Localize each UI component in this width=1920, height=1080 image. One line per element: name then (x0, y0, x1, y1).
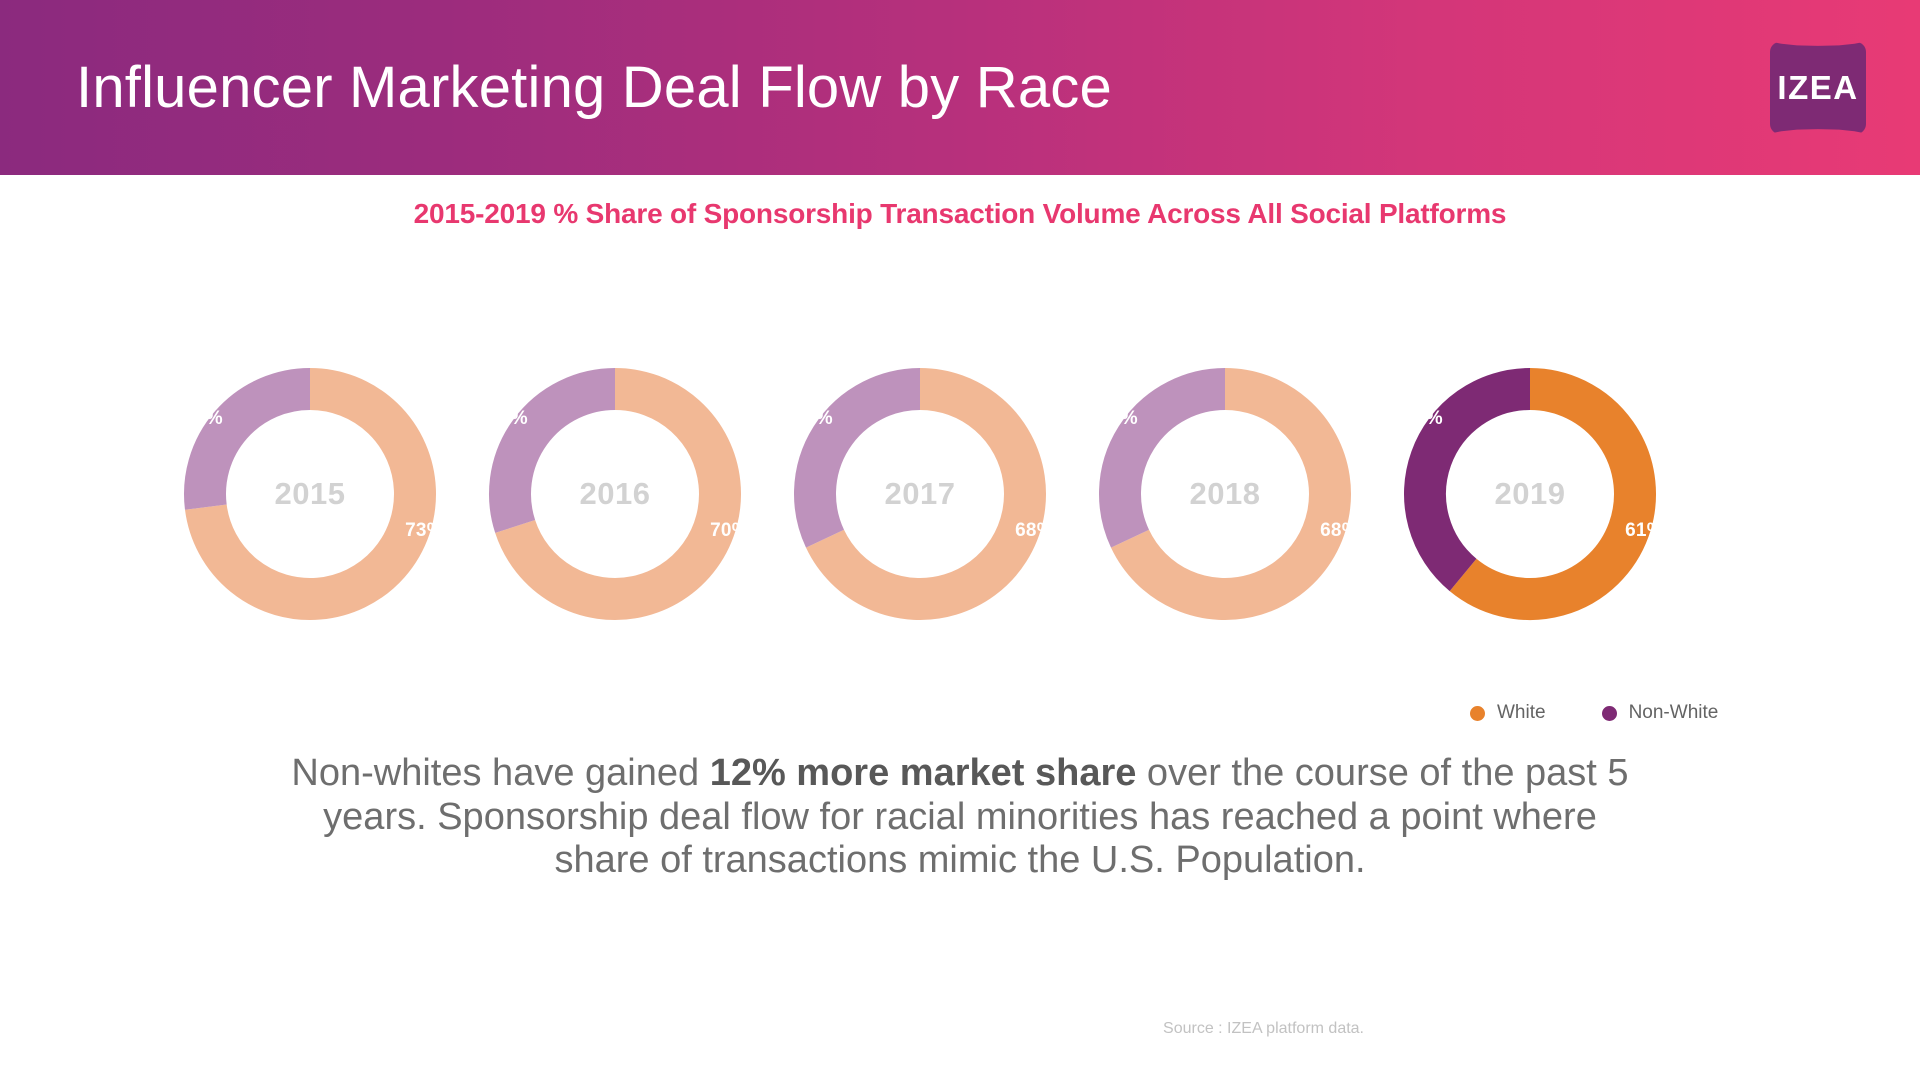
izea-logo: IZEA (1770, 42, 1866, 134)
donut-svg-2018 (1093, 362, 1357, 626)
donut-chart-2019: 201939%61% (1398, 362, 1662, 626)
donut-chart-row: 201527%73%201630%70%201732%68%201832%68%… (178, 362, 1758, 662)
donut-slice-non-white (815, 389, 920, 539)
donut-slice-non-white (1425, 389, 1530, 575)
source-note: Source : IZEA platform data. (1163, 1020, 1364, 1038)
summary-paragraph: Non-whites have gained 12% more market s… (290, 752, 1630, 883)
donut-svg-2019 (1398, 362, 1662, 626)
legend-item-white[interactable]: White (1470, 702, 1546, 724)
donut-svg-2017 (788, 362, 1052, 626)
legend-item-non-white[interactable]: Non-White (1602, 702, 1719, 724)
chart-legend: WhiteNon-White (1470, 702, 1718, 724)
donut-chart-2018: 201832%68% (1093, 362, 1357, 626)
legend-dot-icon (1602, 706, 1617, 721)
legend-label: Non-White (1629, 702, 1719, 724)
donut-chart-2016: 201630%70% (483, 362, 747, 626)
donut-chart-2015: 201527%73% (178, 362, 442, 626)
summary-text-pre: Non-whites have gained (291, 752, 709, 794)
donut-svg-2016 (483, 362, 747, 626)
page-title: Influencer Marketing Deal Flow by Race (76, 59, 1112, 117)
page-header: Influencer Marketing Deal Flow by Race I… (0, 0, 1920, 175)
legend-label: White (1497, 702, 1546, 724)
donut-slice-non-white (510, 389, 615, 526)
summary-text-bold: 12% more market share (710, 752, 1137, 794)
infographic-page: Influencer Marketing Deal Flow by Race I… (0, 0, 1920, 1080)
donut-chart-2017: 201732%68% (788, 362, 1052, 626)
legend-dot-icon (1470, 706, 1485, 721)
logo-wordmark: IZEA (1770, 42, 1866, 134)
chart-subtitle: 2015-2019 % Share of Sponsorship Transac… (0, 198, 1920, 230)
donut-slice-non-white (205, 389, 310, 507)
donut-slice-non-white (1120, 389, 1225, 539)
donut-svg-2015 (178, 362, 442, 626)
